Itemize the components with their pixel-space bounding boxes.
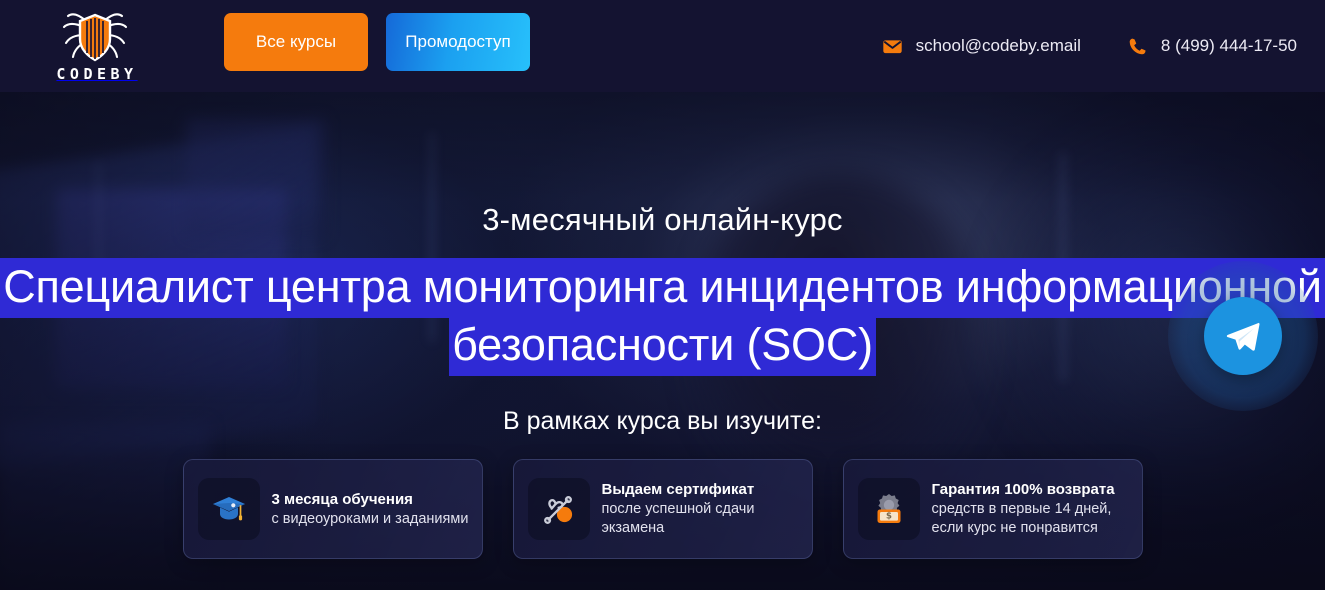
hero-eyebrow: 3-месячный онлайн-курс bbox=[0, 202, 1325, 238]
feature-card-description: после успешной сдачи экзамена bbox=[602, 500, 800, 538]
envelope-icon bbox=[882, 36, 903, 57]
telegram-paper-plane-icon bbox=[1223, 316, 1263, 356]
logo-wordmark: CODEBY bbox=[52, 67, 137, 82]
feature-card-text: Выдаем сертификат после успешной сдачи э… bbox=[602, 480, 800, 538]
landing-page: CODEBY Все курсы Промодоступ school@code… bbox=[0, 0, 1325, 590]
all-courses-button[interactable]: Все курсы bbox=[224, 13, 368, 71]
svg-text:$: $ bbox=[886, 512, 892, 522]
feature-card-duration: 3 месяца обучения с видеоуроками и задан… bbox=[183, 459, 483, 559]
phone-text: 8 (499) 444-17-50 bbox=[1161, 36, 1297, 56]
feature-card-title: 3 месяца обучения bbox=[272, 490, 470, 509]
feature-card-certificate: Выдаем сертификат после успешной сдачи э… bbox=[513, 459, 813, 559]
logo-link[interactable]: CODEBY bbox=[36, 4, 154, 86]
feature-card-description: средств в первые 14 дней, если курс не п… bbox=[932, 500, 1130, 538]
feature-card-text: Гарантия 100% возврата средств в первые … bbox=[932, 480, 1130, 538]
phone-icon bbox=[1127, 36, 1148, 57]
hero-content: 3-месячный онлайн-курс Специалист центра… bbox=[0, 92, 1325, 590]
hero-subtitle: В рамках курса вы изучите: bbox=[0, 407, 1325, 436]
header-actions: Все курсы Промодоступ bbox=[224, 13, 530, 71]
header-contacts: school@codeby.email 8 (499) 444-17-50 bbox=[882, 0, 1297, 92]
page-title-highlight: Специалист центра мониторинга инцидентов… bbox=[0, 258, 1325, 376]
site-header: CODEBY Все курсы Промодоступ school@code… bbox=[0, 0, 1325, 92]
money-back-icon: $ bbox=[858, 478, 920, 540]
spider-shield-logo-icon bbox=[60, 9, 130, 65]
feature-card-title: Гарантия 100% возврата bbox=[932, 480, 1130, 499]
graduation-cap-icon bbox=[198, 478, 260, 540]
page-title: Специалист центра мониторинга инцидентов… bbox=[0, 258, 1325, 374]
hero-section: 3-месячный онлайн-курс Специалист центра… bbox=[0, 92, 1325, 590]
feature-card-description: с видеоуроками и заданиями bbox=[272, 510, 470, 529]
promo-access-button[interactable]: Промодоступ bbox=[386, 13, 530, 71]
email-text: school@codeby.email bbox=[916, 36, 1081, 56]
feature-card-guarantee: $ Гарантия 100% возврата средств в первы… bbox=[843, 459, 1143, 559]
email-contact[interactable]: school@codeby.email bbox=[882, 36, 1081, 57]
feature-card-text: 3 месяца обучения с видеоуроками и задан… bbox=[272, 490, 470, 529]
telegram-button[interactable] bbox=[1204, 297, 1282, 375]
telegram-floating-action bbox=[1169, 253, 1317, 419]
certificate-icon bbox=[528, 478, 590, 540]
feature-card-list: 3 месяца обучения с видеоуроками и задан… bbox=[0, 459, 1325, 559]
feature-card-title: Выдаем сертификат bbox=[602, 480, 800, 499]
phone-contact[interactable]: 8 (499) 444-17-50 bbox=[1127, 36, 1297, 57]
